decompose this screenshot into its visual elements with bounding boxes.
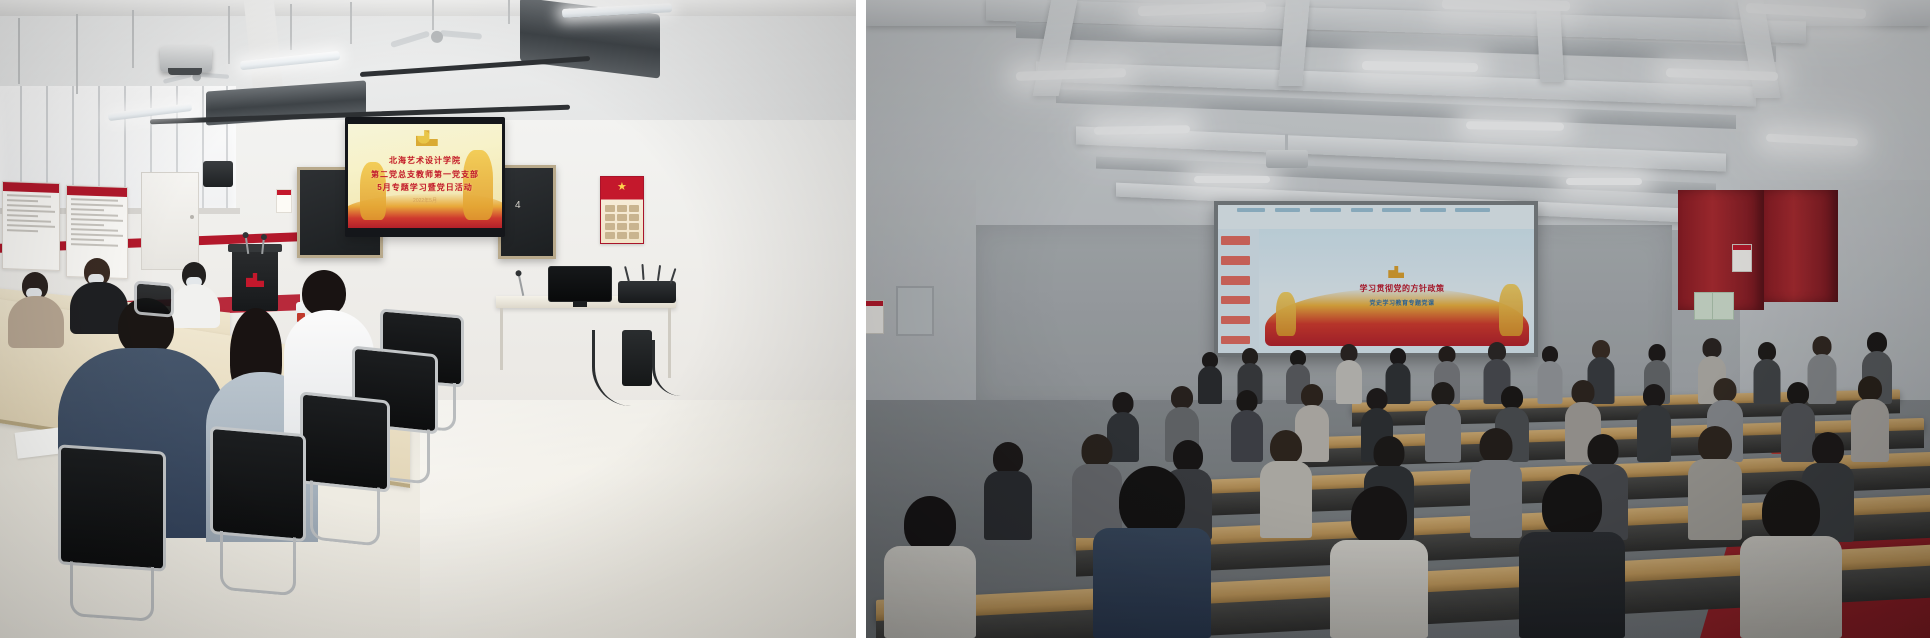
figure-root: 4 北海艺术设计学院 第二党总支教师第一党支部 5月专题学习暨党日活动 2022…	[0, 0, 1930, 638]
slide-banner-graphic	[1265, 288, 1529, 345]
chair-3[interactable]	[300, 391, 390, 492]
star-icon: ★	[617, 182, 627, 193]
projector	[160, 46, 212, 72]
ceiling-light-11	[1566, 178, 1642, 185]
control-monitor[interactable]	[548, 266, 612, 302]
student	[1262, 430, 1310, 538]
green-notice-board-2	[1712, 292, 1734, 320]
photo-left-seminar-room: 4 北海艺术设计学院 第二党总支教师第一党支部 5月专题学习暨党日活动 2022…	[0, 0, 856, 638]
ceiling-beam	[0, 0, 856, 16]
projection-screen-right: 学习贯彻党的方针政策 党史学习教育专题党课	[1218, 205, 1534, 353]
student	[1336, 344, 1362, 404]
slide-gold-figure-left	[1276, 292, 1296, 336]
chair-4[interactable]	[210, 426, 306, 542]
slide-gold-figure-right	[1499, 284, 1523, 336]
ppt-slide-canvas: 学习贯彻党的方针政策 党史学习教育专题党课	[1259, 229, 1534, 353]
student-foreground-blue	[1102, 466, 1202, 638]
student-foreground-right	[1526, 474, 1618, 638]
ceiling-light-7	[1094, 125, 1190, 135]
slide-subhead: 党史学习教育专题党课	[1303, 298, 1501, 307]
photo-right-lecture-hall: 学习贯彻党的方针政策 党史学习教育专题党课	[866, 0, 1930, 638]
paper-document	[15, 427, 64, 458]
slide-title-line-3: 5月专题学习暨党日活动	[360, 182, 489, 193]
slide-title-line-2: 第二党总支教师第一党支部	[360, 169, 489, 180]
ceiling-projector	[1266, 150, 1308, 168]
projection-screen-frame: 北海艺术设计学院 第二党总支教师第一党支部 5月专题学习暨党日活动 2022年5…	[345, 117, 505, 237]
student-foreground-far-right	[1746, 480, 1836, 638]
student	[1198, 352, 1222, 404]
side-sign	[866, 300, 884, 334]
slide-subtitle: 2022年5月	[376, 197, 475, 204]
student-foreground-center	[1336, 486, 1422, 638]
ceiling-light-10	[1194, 176, 1270, 183]
left-scene: 4 北海艺术设计学院 第二党总支教师第一党支部 5月专题学习暨党日活动 2022…	[0, 0, 856, 638]
curtain-right	[1764, 190, 1838, 302]
wall-notice-small	[276, 189, 292, 213]
student	[1426, 382, 1460, 462]
student	[1754, 342, 1780, 404]
student	[1852, 376, 1888, 462]
student	[1232, 390, 1262, 462]
wall-sign-right	[1732, 244, 1752, 272]
party-emblem-icon-podium	[246, 273, 264, 287]
ppt-ribbon	[1218, 205, 1534, 230]
honor-certificate-board: ★	[600, 176, 644, 244]
side-notice-board	[896, 286, 934, 336]
right-scene: 学习贯彻党的方针政策 党史学习教育专题党课	[866, 0, 1930, 638]
chair-5[interactable]	[58, 444, 166, 572]
chalkboard-right	[498, 165, 556, 259]
party-emblem-icon	[416, 130, 438, 146]
ppt-slide-thumbnails	[1218, 229, 1260, 353]
student	[1538, 346, 1562, 404]
podium	[232, 249, 278, 311]
student	[1472, 428, 1520, 538]
student-foreground-left	[890, 496, 970, 638]
chalkboard-note: 4	[515, 200, 521, 211]
door[interactable]	[141, 172, 199, 270]
party-emblem-icon	[1388, 266, 1404, 278]
student	[1638, 384, 1670, 462]
student	[986, 442, 1030, 540]
projection-screen-left: 北海艺术设计学院 第二党总支教师第一党支部 5月专题学习暨党日活动 2022年5…	[348, 124, 502, 228]
door-knob[interactable]	[190, 215, 194, 219]
ceiling-light-8	[1466, 121, 1564, 131]
floor-reflection	[420, 400, 856, 638]
student	[1690, 426, 1740, 540]
wall-speaker	[203, 161, 233, 187]
wireless-router	[618, 281, 676, 303]
slide-title-line-1: 北海艺术设计学院	[360, 155, 489, 166]
slide-headline: 学习贯彻党的方针政策	[1303, 283, 1501, 294]
wall-poster-1	[2, 181, 60, 271]
projection-screen-frame-right: 学习贯彻党的方针政策 党史学习教育专题党课	[1214, 201, 1538, 357]
chair-6[interactable]	[134, 280, 174, 317]
